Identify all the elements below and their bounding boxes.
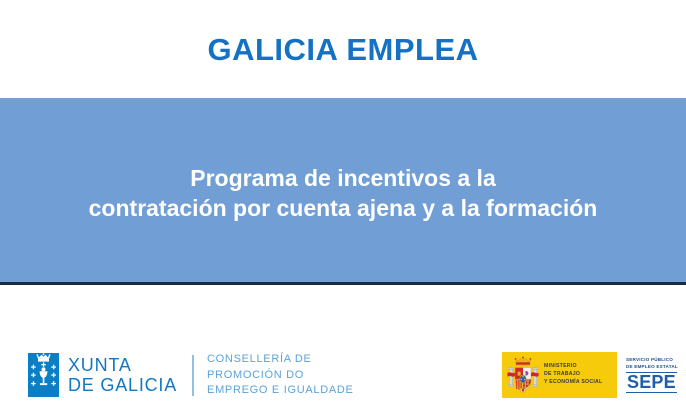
sepe-logo: SERVICIO PÚBLICO DE EMPLEO ESTATAL SEPE (617, 352, 686, 398)
galicia-coat-of-arms-icon (28, 353, 59, 397)
sepe-tagline-line-2: DE EMPLEO ESTATAL (626, 364, 686, 371)
xunta-wordmark-line-1: XUNTA (68, 355, 177, 375)
xunta-de-galicia-logo: XUNTA DE GALICIA CONSELLERÍA DE PROMOCIÓ… (28, 352, 354, 399)
consellaria-line-2: PROMOCIÓN DO (207, 368, 354, 384)
program-banner-line-1: Programa de incentivos a la (23, 163, 663, 193)
program-banner-text: Programa de incentivos a la contratación… (23, 157, 663, 224)
sepe-wordmark: SEPE (626, 372, 677, 393)
sepe-tagline-line-1: SERVICIO PÚBLICO (626, 357, 686, 364)
logo-divider (192, 355, 194, 396)
xunta-wordmark-line-2: DE GALICIA (68, 375, 177, 395)
consellaria-line-1: CONSELLERÍA DE (207, 352, 354, 368)
page-header: GALICIA EMPLEA (0, 0, 686, 98)
government-logos: MINISTERIO DE TRABAJO Y ECONOMÍA SOCIAL … (502, 352, 686, 398)
program-banner: Programa de incentivos a la contratación… (0, 98, 686, 285)
sepe-tagline: SERVICIO PÚBLICO DE EMPLEO ESTATAL (623, 357, 686, 370)
page-title: GALICIA EMPLEA (207, 34, 478, 65)
ministry-name-line-3: Y ECONOMÍA SOCIAL (544, 379, 602, 387)
logo-footer: XUNTA DE GALICIA CONSELLERÍA DE PROMOCIÓ… (0, 288, 686, 410)
spain-coat-of-arms-icon (505, 355, 541, 395)
xunta-wordmark: XUNTA DE GALICIA (68, 355, 177, 396)
ministry-name-line-1: MINISTERIO (544, 363, 602, 371)
ministry-logo: MINISTERIO DE TRABAJO Y ECONOMÍA SOCIAL (502, 352, 617, 398)
ministry-name: MINISTERIO DE TRABAJO Y ECONOMÍA SOCIAL (544, 363, 602, 386)
program-banner-line-2: contratación por cuenta ajena y a la for… (23, 193, 663, 223)
consellaria-text: CONSELLERÍA DE PROMOCIÓN DO EMPREGO E IG… (207, 352, 354, 399)
ministry-name-line-2: DE TRABAJO (544, 371, 602, 379)
consellaria-line-3: EMPREGO E IGUALDADE (207, 383, 354, 399)
